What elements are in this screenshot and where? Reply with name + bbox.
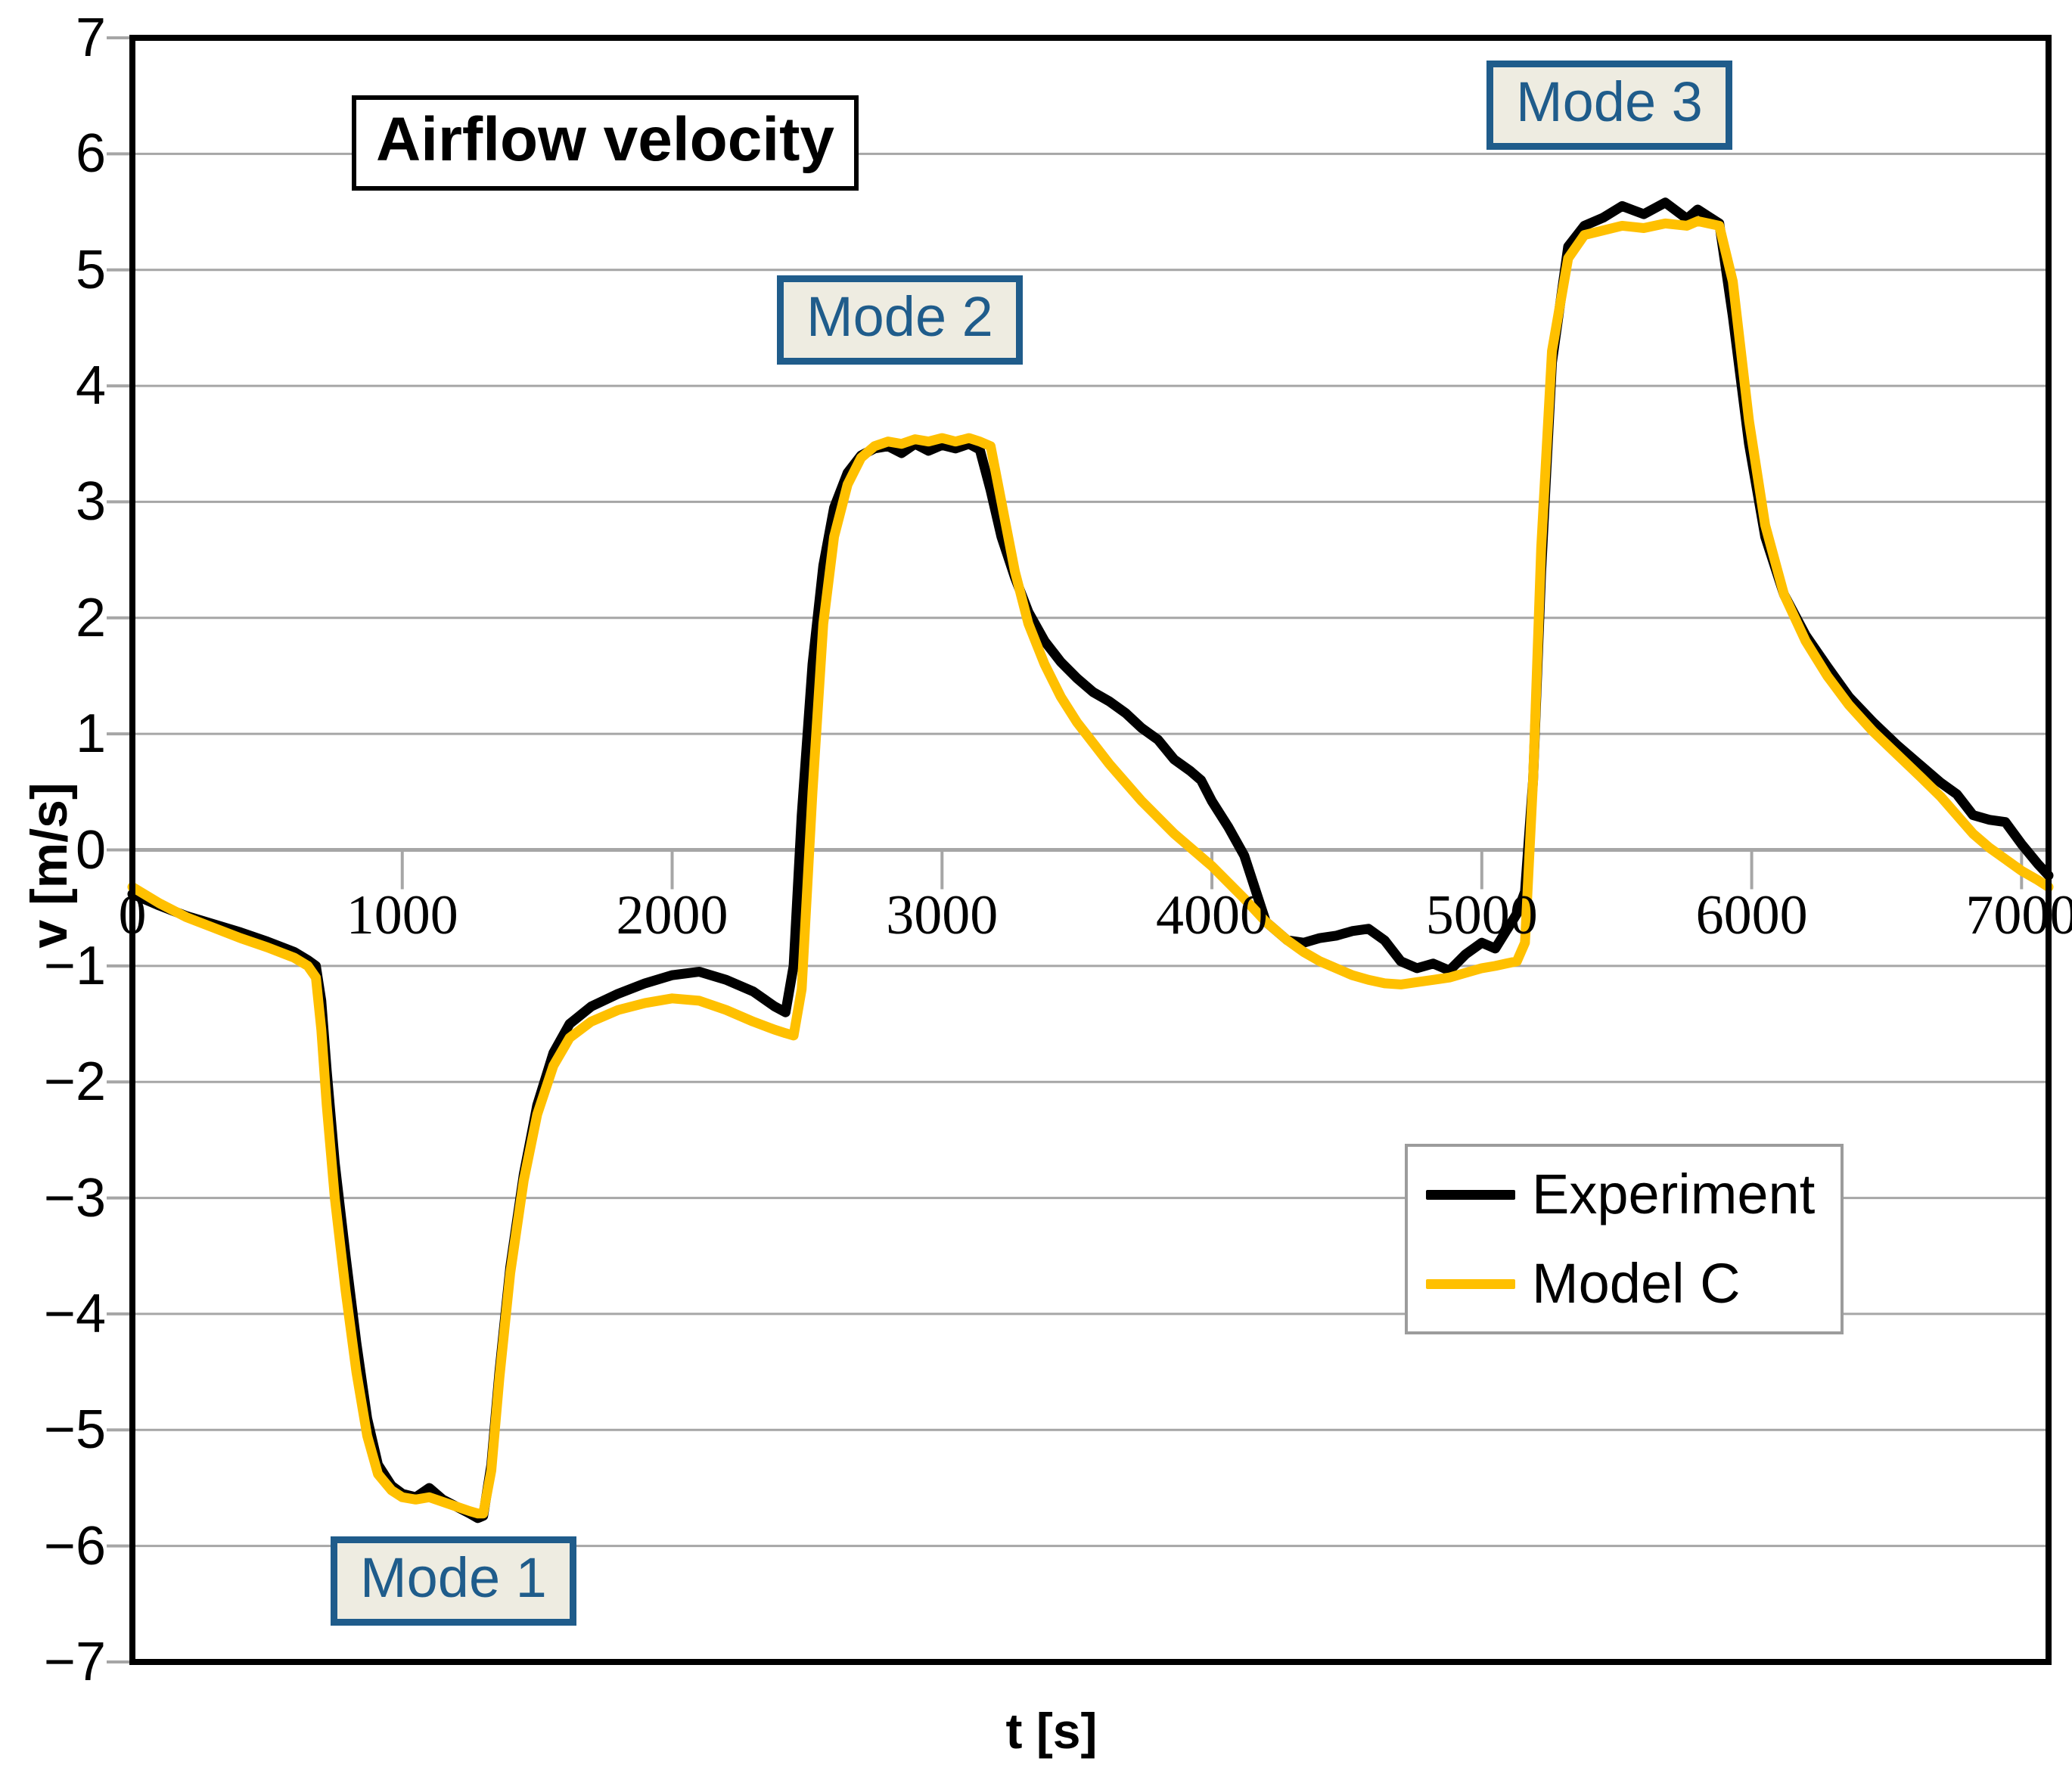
legend-item-model-c: Model C (1426, 1256, 1815, 1312)
y-tick-label: −5 (0, 1399, 106, 1461)
y-tick-label: 4 (0, 355, 106, 417)
chart-legend: Experiment Model C (1405, 1144, 1844, 1334)
chart-title-text: Airflow velocity (376, 105, 834, 174)
x-tick-label: 2000 (617, 884, 728, 948)
y-tick-label: 7 (0, 7, 106, 69)
mode-2-callout: Mode 2 (777, 275, 1023, 365)
legend-label-model-c: Model C (1532, 1256, 1741, 1312)
legend-label-experiment: Experiment (1532, 1166, 1815, 1222)
gridlines (132, 38, 2049, 1662)
x-axis-title: t [s] (976, 1702, 1127, 1760)
y-tick-label: −2 (0, 1051, 106, 1113)
y-axis-title: v [m/s] (20, 752, 79, 979)
y-tick-label: −4 (0, 1283, 106, 1345)
y-tick-label: −7 (0, 1631, 106, 1693)
x-tick-label: 1000 (346, 884, 458, 948)
x-tick-label: 4000 (1156, 884, 1268, 948)
x-tick-label: 5000 (1426, 884, 1538, 948)
x-tick-label: 0 (119, 884, 147, 948)
legend-swatch-experiment (1426, 1190, 1515, 1200)
mode-1-label: Mode 1 (360, 1546, 547, 1609)
mode-1-callout: Mode 1 (331, 1536, 576, 1626)
legend-item-experiment: Experiment (1426, 1166, 1815, 1222)
mode-3-callout: Mode 3 (1486, 61, 1732, 150)
legend-swatch-model-c (1426, 1279, 1515, 1289)
y-tick-label: 3 (0, 471, 106, 533)
y-tick-marks (107, 38, 132, 1662)
mode-2-label: Mode 2 (806, 285, 993, 348)
y-tick-label: 2 (0, 587, 106, 649)
y-tick-label: −6 (0, 1515, 106, 1577)
y-tick-label: 6 (0, 123, 106, 185)
chart-title-box: Airflow velocity (352, 95, 859, 191)
chart-figure: 76543210−1−2−3−4−5−6−7 01000200030004000… (0, 0, 2072, 1783)
mode-3-label: Mode 3 (1516, 70, 1703, 133)
y-tick-label: −3 (0, 1167, 106, 1229)
y-tick-label: 5 (0, 239, 106, 301)
x-tick-label: 6000 (1696, 884, 1808, 948)
x-tick-label: 7000 (1965, 884, 2072, 948)
x-tick-label: 3000 (886, 884, 998, 948)
